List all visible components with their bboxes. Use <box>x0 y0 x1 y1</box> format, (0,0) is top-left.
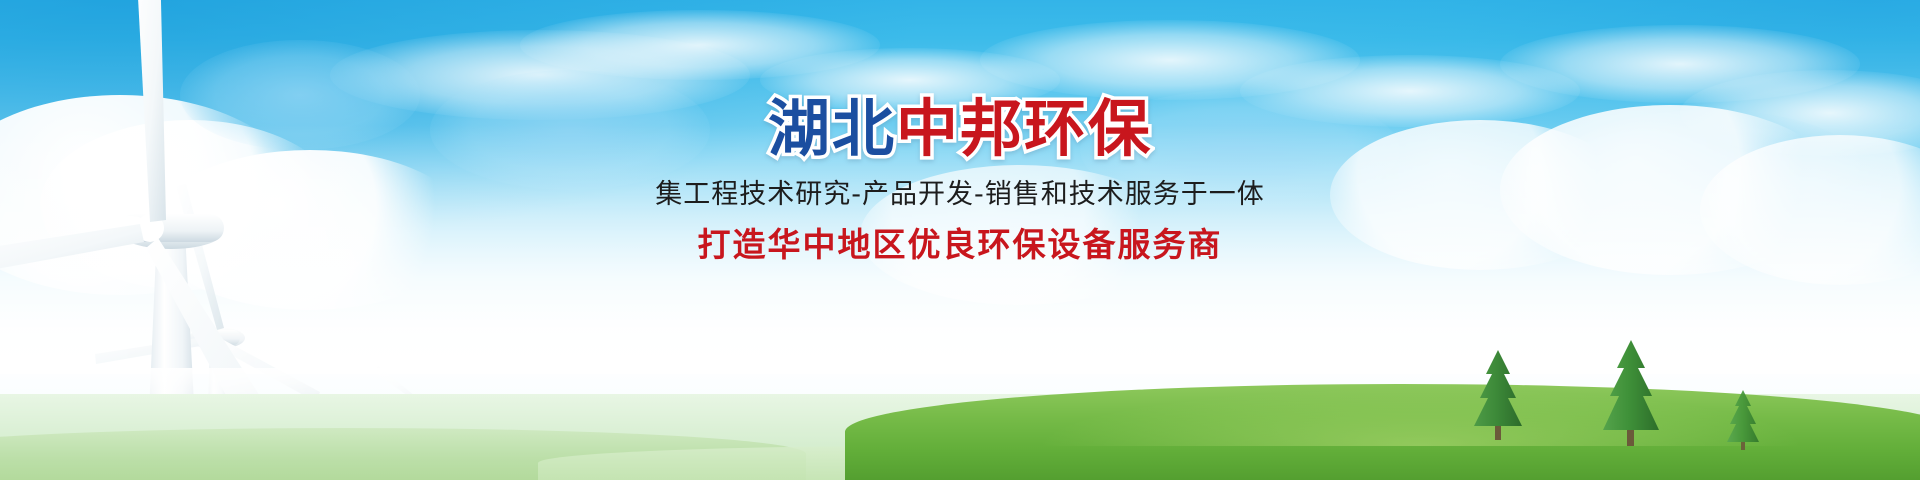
title-brand: 中邦环保 <box>896 92 1152 165</box>
evergreen-tree <box>1596 338 1666 446</box>
evergreen-tree <box>1468 348 1528 440</box>
hill-right-highlight <box>1037 388 1805 446</box>
banner-tagline: 打造华中地区优良环保设备服务商 <box>0 225 1920 265</box>
banner-subtitle: 集工程技术研究-产品开发-销售和技术服务于一体 <box>0 179 1920 211</box>
evergreen-tree-small <box>1723 388 1763 450</box>
page-title: 湖北中邦环保 <box>768 96 1152 163</box>
banner-text-block: 湖北中邦环保 集工程技术研究-产品开发-销售和技术服务于一体 打造华中地区优良环… <box>0 96 1920 265</box>
hero-banner: 湖北中邦环保 集工程技术研究-产品开发-销售和技术服务于一体 打造华中地区优良环… <box>0 0 1920 480</box>
title-region: 湖北 <box>768 92 896 165</box>
